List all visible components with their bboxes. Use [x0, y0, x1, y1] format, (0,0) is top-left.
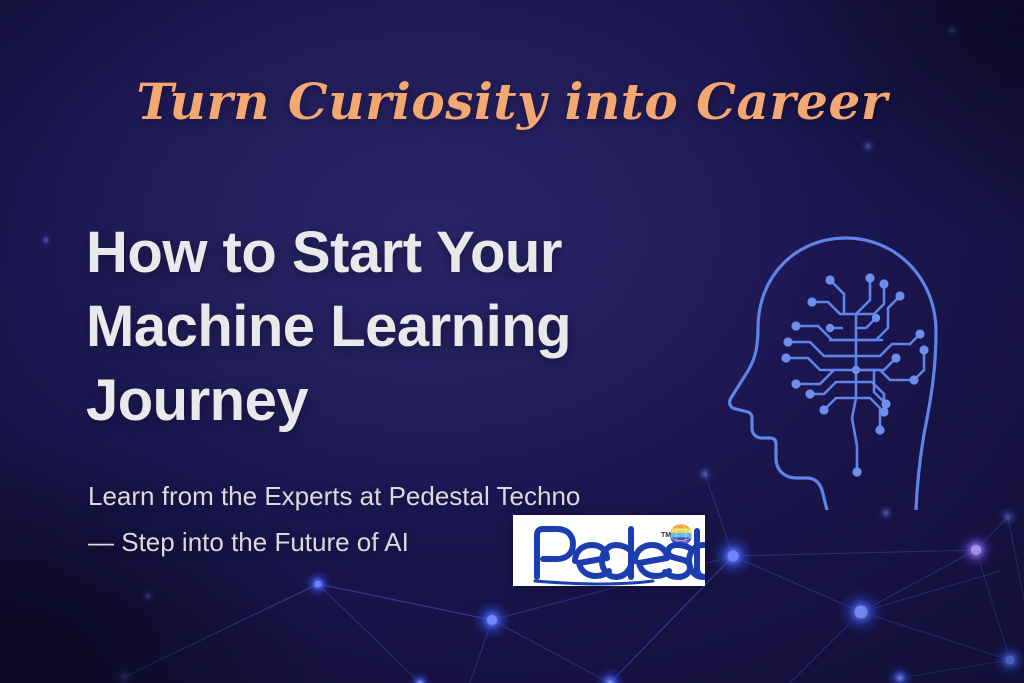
- page-title: How to Start Your Machine Learning Journ…: [86, 216, 746, 438]
- headline-line-3: Journey: [86, 364, 746, 438]
- ai-head-circuit-brain-graphic: [724, 222, 976, 510]
- ml-course-promo-banner: Turn Curiosity into Career How to Start …: [0, 0, 1024, 683]
- subtitle-line-1: Learn from the Experts at Pedestal Techn…: [88, 473, 728, 519]
- headline-line-2: Machine Learning: [86, 290, 746, 364]
- pedestal-logo[interactable]: TM: [513, 515, 705, 586]
- circuit-brain-traces: [786, 278, 924, 472]
- logo-trademark: TM: [661, 532, 671, 539]
- tagline: Turn Curiosity into Career: [0, 72, 1024, 131]
- headline-line-1: How to Start Your: [86, 216, 746, 290]
